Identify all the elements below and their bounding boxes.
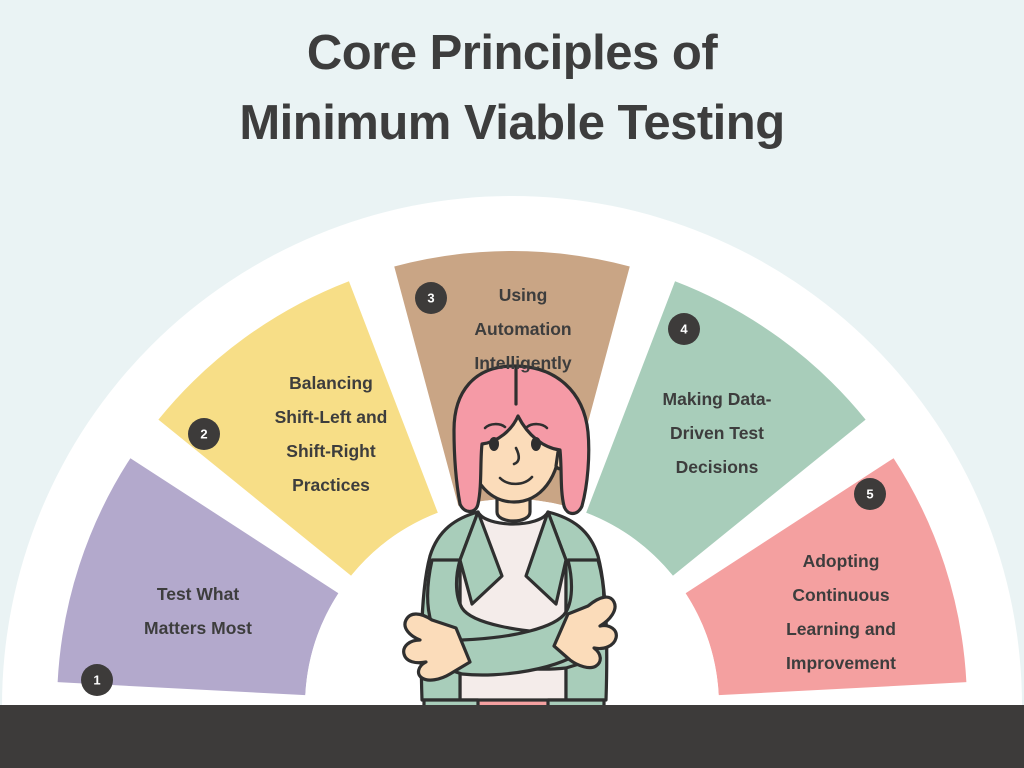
badge-number-2: 2: [200, 427, 207, 442]
segment-badge-3[interactable]: 3: [415, 282, 447, 314]
segment-badge-1[interactable]: 1: [81, 664, 113, 696]
badge-number-1: 1: [93, 673, 100, 688]
segment-label-4: Making Data-Driven TestDecisions: [663, 389, 772, 477]
eye-right: [531, 437, 541, 451]
eye-left: [489, 437, 499, 451]
segment-badge-5[interactable]: 5: [854, 478, 886, 510]
infographic-canvas: Core Principles of Minimum Viable Testin…: [0, 0, 1024, 768]
segment-badge-4[interactable]: 4: [668, 313, 700, 345]
footer-band: [0, 705, 1024, 768]
badge-number-5: 5: [866, 487, 873, 502]
segment-badge-2[interactable]: 2: [188, 418, 220, 450]
badge-number-3: 3: [427, 291, 434, 306]
semicircle-wheel: Test WhatMatters MostBalancingShift-Left…: [0, 0, 1024, 768]
badge-number-4: 4: [680, 322, 688, 337]
